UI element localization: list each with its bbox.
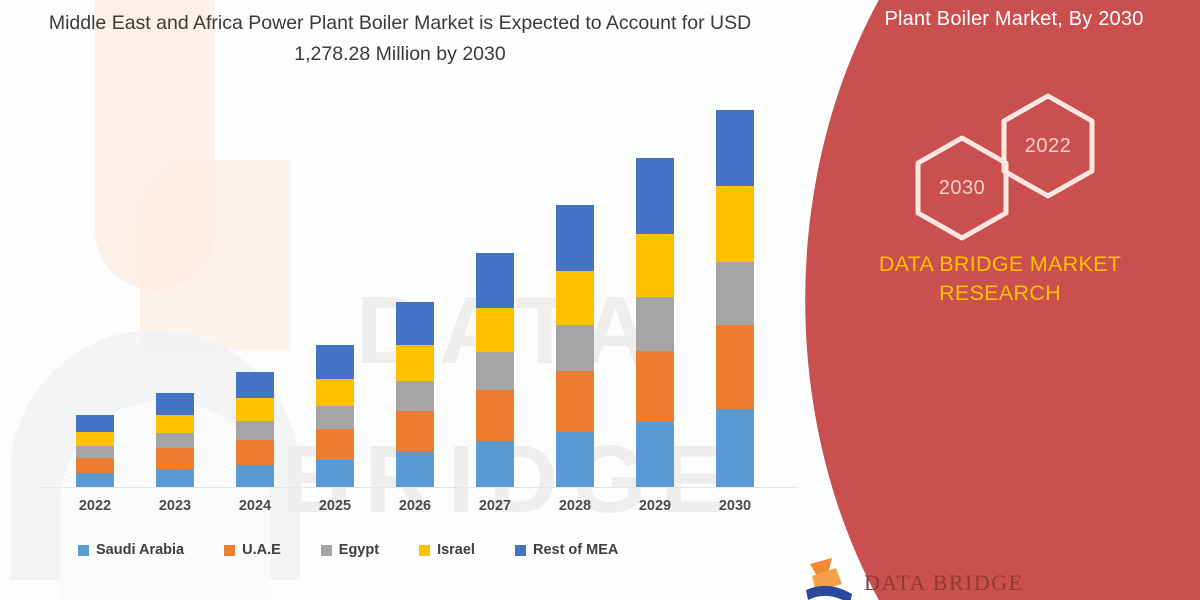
legend-item[interactable]: U.A.E [224,542,281,558]
legend-label: Egypt [339,542,379,558]
bar-column [716,110,754,488]
bar-segment [76,473,114,488]
legend-item[interactable]: Israel [419,542,475,558]
legend-item[interactable]: Rest of MEA [515,542,618,558]
brand-line-2: RESEARCH [820,279,1180,308]
x-tick-label: 2025 [305,498,365,514]
bar-segment [716,409,754,488]
bar-segment [156,469,194,488]
bar-segment [76,458,114,474]
bar-segment [636,234,674,297]
bar-segment [76,446,114,458]
bar-segment [636,351,674,423]
bar-segment [476,390,514,441]
legend-item[interactable]: Saudi Arabia [78,542,184,558]
legend-label: Saudi Arabia [96,542,184,558]
legend-swatch-icon [419,545,430,556]
infographic-canvas: DATA BRIDGE MARKET RESEARCH Middle East … [0,0,1200,600]
bar-segment [76,432,114,446]
hexagon-2022-label: 2022 [1025,135,1072,158]
legend-swatch-icon [321,545,332,556]
x-tick-label: 2030 [705,498,765,514]
bar-column [396,302,434,488]
legend-swatch-icon [78,545,89,556]
bar-segment [236,440,274,465]
bar-segment [236,372,274,399]
bar-segment [556,205,594,271]
x-tick-label: 2024 [225,498,285,514]
x-tick-label: 2027 [465,498,525,514]
stacked-bar-chart: 202220232024202520262027202820292030 Sau… [0,0,800,600]
bar-column [76,415,114,488]
legend-label: Israel [437,542,475,558]
bar-segment [476,253,514,307]
x-axis-tick-labels: 202220232024202520262027202820292030 [55,496,775,522]
legend-item[interactable]: Egypt [321,542,379,558]
bar-segment [636,297,674,351]
bar-column [556,205,594,488]
company-logo: DATA BRIDGE [802,554,1042,600]
bar-column [156,393,194,488]
bar-segment [476,352,514,390]
x-tick-label: 2022 [65,498,125,514]
chart-legend: Saudi ArabiaU.A.EEgyptIsraelRest of MEA [78,538,658,562]
x-tick-label: 2028 [545,498,605,514]
bar-segment [236,465,274,488]
bar-segment [556,325,594,371]
legend-swatch-icon [224,545,235,556]
bar-segment [556,371,594,432]
bar-segment [316,345,354,378]
brand-line-1: DATA BRIDGE MARKET [820,250,1180,279]
bar-segment [396,302,434,345]
bar-column [636,158,674,488]
bar-segment [316,379,354,406]
bar-segment [156,448,194,468]
bar-segment [716,325,754,409]
bar-segment [396,345,434,380]
hexagon-2030: 2030 [914,134,1010,242]
x-axis-line [38,487,798,488]
x-tick-label: 2029 [625,498,685,514]
bar-segment [156,393,194,415]
bar-column [316,345,354,488]
bar-segment [316,406,354,429]
bar-segment [636,422,674,488]
right-panel: Plant Boiler Market, By 2030 2030 2022 D… [780,0,1200,600]
bar-segment [716,186,754,261]
bar-segment [236,421,274,440]
bar-segment [476,308,514,353]
bar-segment [316,429,354,460]
bar-segment [316,460,354,488]
bar-column [236,372,274,488]
bar-segment [396,411,434,451]
legend-swatch-icon [515,545,526,556]
bar-segment [396,451,434,488]
legend-label: Rest of MEA [533,542,618,558]
bar-segment [156,433,194,448]
bar-segment [76,415,114,432]
bar-segment [716,110,754,186]
panel-title: Plant Boiler Market, By 2030 [780,8,1200,31]
x-tick-label: 2023 [145,498,205,514]
bar-segment [716,262,754,326]
chart-plot-area [55,110,775,488]
brand-name: DATA BRIDGE MARKET RESEARCH [820,250,1180,308]
bar-segment [476,441,514,488]
logo-text: DATA BRIDGE [864,570,1024,596]
legend-label: U.A.E [242,542,281,558]
x-tick-label: 2026 [385,498,445,514]
bar-segment [636,158,674,234]
bar-segment [156,415,194,433]
bar-column [476,253,514,488]
bar-segment [556,432,594,488]
hexagon-2022: 2022 [1000,92,1096,200]
bridge-logo-icon [802,554,858,600]
hexagon-2030-label: 2030 [939,177,986,200]
bar-segment [236,398,274,420]
bar-segment [396,381,434,411]
bar-segment [556,271,594,325]
hexagon-group: 2030 2022 [876,92,1156,222]
